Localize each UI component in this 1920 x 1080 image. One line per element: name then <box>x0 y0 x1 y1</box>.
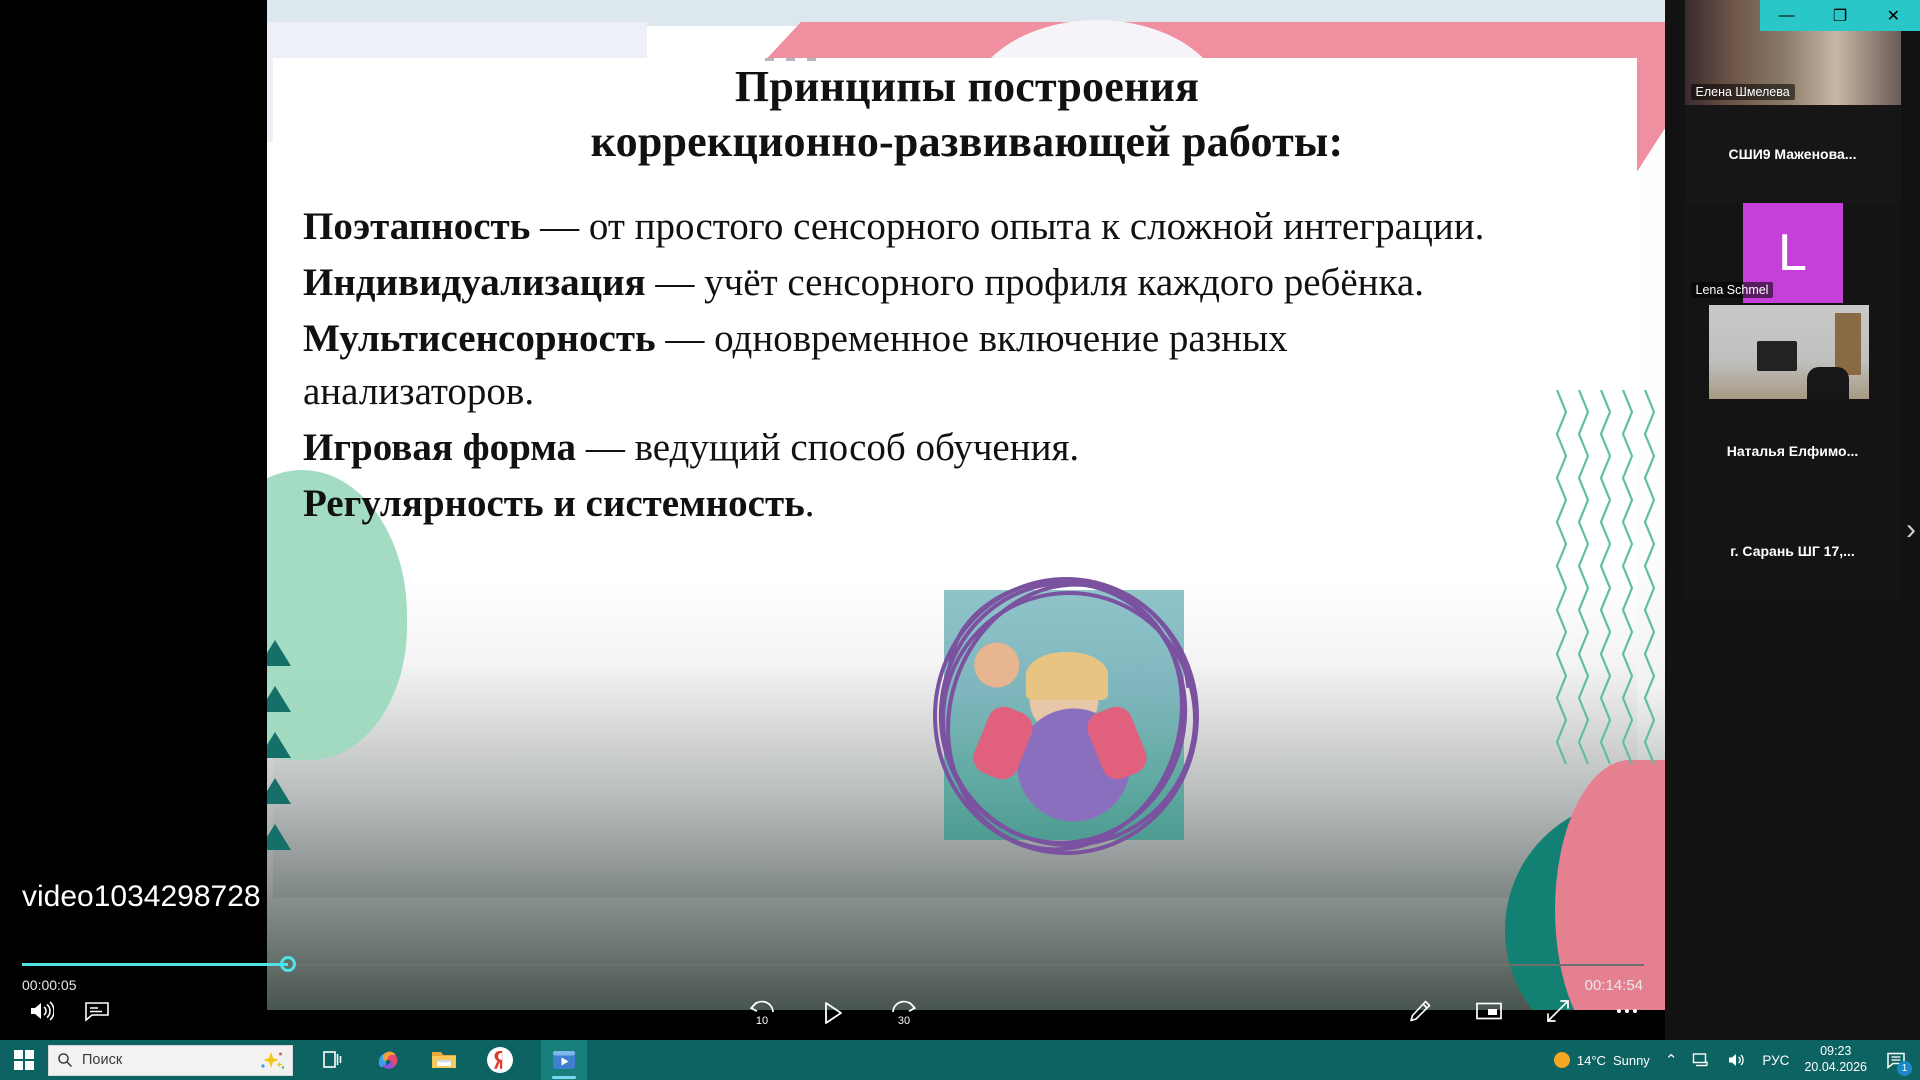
copilot-icon[interactable] <box>373 1043 403 1077</box>
slide-bullet-text: — от простого сенсорного опыта к сложной… <box>530 205 1484 248</box>
network-icon[interactable] <box>1692 1051 1712 1069</box>
slide-bullet: Поэтапность — от простого сенсорного опы… <box>303 200 1503 253</box>
restore-icon[interactable]: ❐ <box>1818 0 1862 31</box>
slide-bullet-text: — учёт сенсорного профиля каждого ребёнк… <box>646 261 1424 304</box>
taskbar-icons <box>317 1040 587 1080</box>
clock[interactable]: 09:23 20.04.2026 <box>1804 1044 1867 1075</box>
taskbar: Поиск <box>0 1040 1920 1080</box>
slide-bullet-term: Индивидуализация <box>303 261 646 304</box>
video-file-title: video1034298728 <box>22 880 261 914</box>
fullscreen-icon[interactable] <box>1545 998 1571 1024</box>
svg-text:30: 30 <box>897 1015 909 1027</box>
notification-badge: 1 <box>1897 1061 1912 1076</box>
search-input[interactable]: Поиск <box>48 1045 293 1076</box>
svg-text:10: 10 <box>755 1015 767 1027</box>
slide-bullet: Игровая форма — ведущий способ обучения. <box>303 421 1503 474</box>
weather-temperature: 14°C <box>1577 1053 1606 1068</box>
slide-title: Принципы построения коррекционно-развива… <box>407 60 1527 169</box>
current-time: 00:00:05 <box>22 977 77 993</box>
video-player[interactable]: Принципы построения коррекционно-развива… <box>0 0 1665 1060</box>
slide-bullet-term: Регулярность и системность <box>303 482 805 525</box>
forward-30-icon[interactable]: 30 <box>888 998 920 1028</box>
clock-time: 09:23 <box>1804 1044 1867 1060</box>
edit-pencil-icon[interactable] <box>1407 998 1433 1024</box>
seek-bar[interactable] <box>22 962 1644 968</box>
slide-bullet-text: . <box>805 482 815 525</box>
search-placeholder: Поиск <box>82 1052 249 1068</box>
sun-icon <box>1554 1052 1570 1068</box>
triangle-icon <box>267 824 291 850</box>
slide-bullet-term: Игровая форма <box>303 426 576 469</box>
slide-title-line-1: Принципы построения <box>407 60 1527 115</box>
slide-photo <box>920 570 1210 860</box>
weather-widget[interactable]: 14°C Sunny <box>1554 1052 1650 1068</box>
player-right-controls <box>1407 998 1641 1024</box>
volume-tray-icon[interactable] <box>1727 1051 1747 1069</box>
search-icon <box>57 1052 73 1068</box>
weather-condition: Sunny <box>1613 1053 1650 1068</box>
triangle-icon <box>267 640 291 666</box>
seek-progress <box>22 963 288 966</box>
file-explorer-icon[interactable] <box>429 1043 459 1077</box>
start-button[interactable] <box>0 1040 48 1080</box>
purple-circle-scribble-icon <box>920 570 1210 860</box>
slide-bullet: Мультисенсорность — одновременное включе… <box>303 312 1503 418</box>
participant-tile[interactable] <box>1685 303 1901 401</box>
mini-player-icon[interactable] <box>1475 1000 1503 1022</box>
slide-triangle-column <box>267 640 299 870</box>
language-indicator[interactable]: РУС <box>1762 1053 1789 1068</box>
slide-dot-marks <box>765 48 885 56</box>
screen: Принципы построения коррекционно-развива… <box>0 0 1920 1080</box>
video-detail <box>1757 341 1797 371</box>
triangle-icon <box>267 732 291 758</box>
video-detail <box>1807 367 1849 399</box>
task-view-icon[interactable] <box>317 1043 347 1077</box>
media-player-icon[interactable] <box>541 1040 587 1080</box>
close-icon[interactable]: ✕ <box>1871 0 1915 31</box>
clock-date: 20.04.2026 <box>1804 1060 1867 1076</box>
video-detail <box>1835 313 1861 375</box>
participant-name: СШИ9 Маженова... <box>1685 146 1901 162</box>
more-options-icon[interactable] <box>1613 998 1641 1024</box>
participant-name: Lena Schmel <box>1691 282 1774 298</box>
slide-bullet-text: — ведущий способ обучения. <box>576 426 1079 469</box>
participant-name: Елена Шмелева <box>1691 84 1795 100</box>
play-button[interactable] <box>820 999 846 1027</box>
slide-bullet: Регулярность и системность. <box>303 477 1503 530</box>
system-tray: 14°C Sunny ⌃ РУС 09:23 20.04.2026 <box>1554 1044 1920 1075</box>
participant-name: г. Сарань ШГ 17,... <box>1685 543 1901 559</box>
yandex-browser-icon[interactable] <box>485 1043 515 1077</box>
notification-center-button[interactable]: 1 <box>1882 1046 1910 1074</box>
triangle-icon <box>267 686 291 712</box>
participant-tile[interactable]: СШИ9 Маженова... <box>1685 105 1901 203</box>
participant-tile[interactable]: г. Сарань ШГ 17,... <box>1685 501 1901 601</box>
presentation-slide: Принципы построения коррекционно-развива… <box>267 0 1665 1010</box>
slide-body: Поэтапность — от простого сенсорного опы… <box>303 200 1503 533</box>
slide-bullet-term: Поэтапность <box>303 205 530 248</box>
total-duration: 00:14:54 <box>1585 977 1643 994</box>
chevron-right-icon[interactable]: › <box>1906 515 1916 545</box>
triangle-icon <box>267 778 291 804</box>
rewind-10-icon[interactable]: 10 <box>746 998 778 1028</box>
participant-tile[interactable]: L Lena Schmel <box>1685 203 1901 303</box>
minimize-icon[interactable]: — <box>1765 0 1809 31</box>
window-titlebar: — ❐ ✕ <box>1760 0 1920 31</box>
seek-handle[interactable] <box>280 956 296 972</box>
participant-name: Наталья Елфимо... <box>1685 443 1901 459</box>
participant-video-feed <box>1709 305 1869 399</box>
participant-tile[interactable]: Наталья Елфимо... <box>1685 401 1901 501</box>
slide-bullet: Индивидуализация — учёт сенсорного профи… <box>303 256 1503 309</box>
slide-zigzag-decoration <box>1549 390 1659 810</box>
slide-bullet-term: Мультисенсорность <box>303 317 656 360</box>
chevron-up-icon[interactable]: ⌃ <box>1665 1051 1678 1069</box>
video-call-panel: — ❐ ✕ Елена Шмелева СШИ9 Маженова... L L… <box>1665 0 1920 1060</box>
sparkle-icon <box>258 1050 284 1070</box>
slide-title-line-2: коррекционно-развивающей работы: <box>407 115 1527 170</box>
